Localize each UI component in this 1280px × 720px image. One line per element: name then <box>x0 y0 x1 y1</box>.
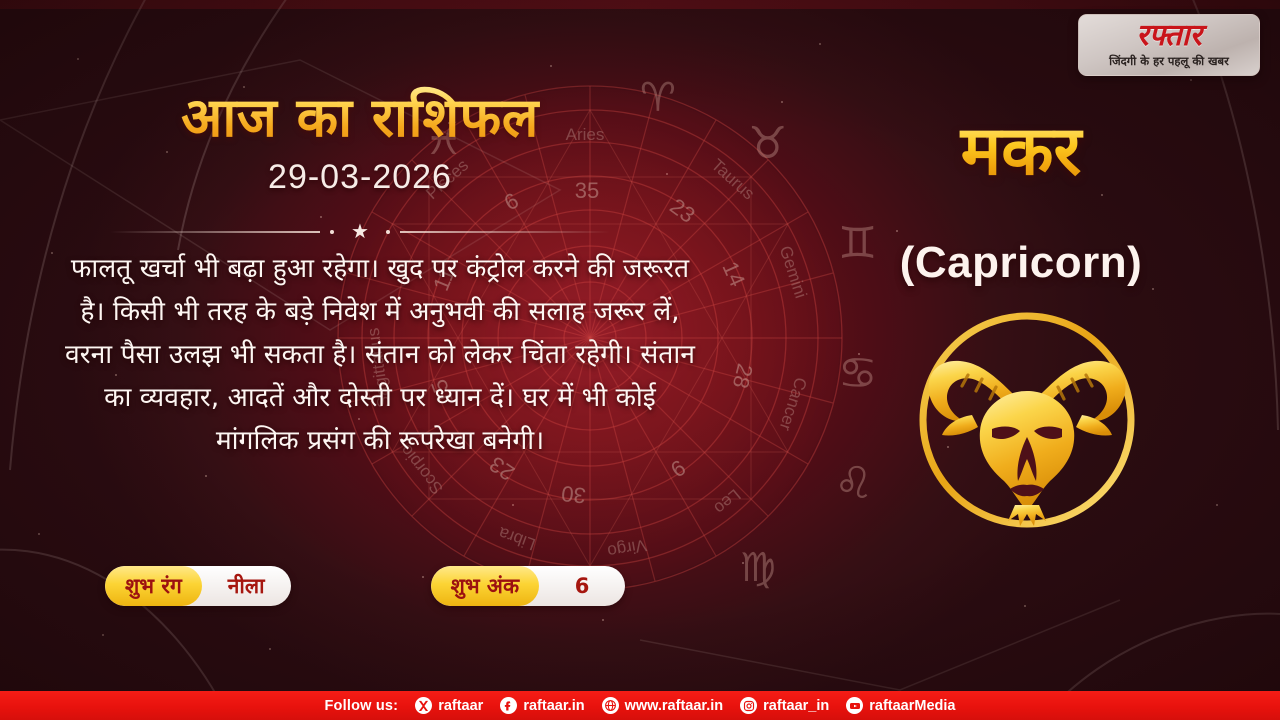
divider-line-right <box>400 231 610 233</box>
divider-dot-right <box>386 230 390 234</box>
divider-star-icon: ★ <box>351 222 369 242</box>
facebook-icon <box>500 697 517 714</box>
section-divider: ★ <box>110 222 610 242</box>
divider-dot-left <box>330 230 334 234</box>
social-link-instagram[interactable]: raftaar_in <box>740 697 829 714</box>
capricorn-goat-emblem-icon <box>912 305 1142 535</box>
x-twitter-icon <box>415 697 432 714</box>
social-handle-website: www.raftaar.in <box>625 698 724 714</box>
lucky-attributes: शुभ रंग नीला शुभ अंक 6 <box>105 566 625 606</box>
lucky-number-label: शुभ अंक <box>431 566 540 606</box>
social-link-website[interactable]: www.raftaar.in <box>602 697 724 714</box>
zodiac-name-english: (Capricorn) <box>780 238 1262 288</box>
content-left: आज का राशिफल 29-03-2026 ★ फालतू खर्चा भी… <box>0 0 720 690</box>
globe-icon <box>602 697 619 714</box>
lucky-number-pill: शुभ अंक 6 <box>431 566 626 606</box>
page-title: आज का राशिफल <box>0 78 720 152</box>
follow-us-label: Follow us: <box>325 698 399 714</box>
logo-tagline: जिंदगी के हर पहलू की खबर <box>1109 54 1229 69</box>
lucky-color-pill: शुभ रंग नीला <box>105 566 291 606</box>
social-link-x[interactable]: raftaar <box>415 697 483 714</box>
social-handle-x: raftaar <box>438 698 483 714</box>
social-handle-facebook: raftaar.in <box>523 698 584 714</box>
social-link-facebook[interactable]: raftaar.in <box>500 697 584 714</box>
youtube-icon <box>846 697 863 714</box>
logo-wordmark: रफ्तार <box>1136 21 1202 51</box>
horoscope-date: 29-03-2026 <box>0 158 720 197</box>
lucky-color-value: नीला <box>202 566 291 606</box>
svg-text:28: 28 <box>728 361 758 391</box>
social-handle-instagram: raftaar_in <box>763 698 829 714</box>
divider-line-left <box>110 231 320 233</box>
zodiac-name-hindi: मकर <box>780 118 1262 186</box>
horoscope-body-text: फालतू खर्चा भी बढ़ा हुआ रहेगा। खुद पर कं… <box>60 248 700 463</box>
content-right: मकर (Capricorn) <box>780 0 1280 690</box>
virgo-glyph-icon: ♍ <box>740 548 776 588</box>
svg-text:14: 14 <box>717 258 750 291</box>
social-link-youtube[interactable]: raftaarMedia <box>846 697 955 714</box>
social-footer: Follow us: raftaar raftaar.in www.raftaa… <box>0 691 1280 720</box>
lucky-color-label: शुभ रंग <box>105 566 202 606</box>
brand-logo[interactable]: रफ्तार जिंदगी के हर पहलू की खबर <box>1078 14 1260 76</box>
instagram-icon <box>740 697 757 714</box>
social-handle-youtube: raftaarMedia <box>869 698 955 714</box>
lucky-number-value: 6 <box>539 566 625 606</box>
horoscope-card: Aries Taurus Gemini Cancer Leo Virgo Lib… <box>0 0 1280 720</box>
